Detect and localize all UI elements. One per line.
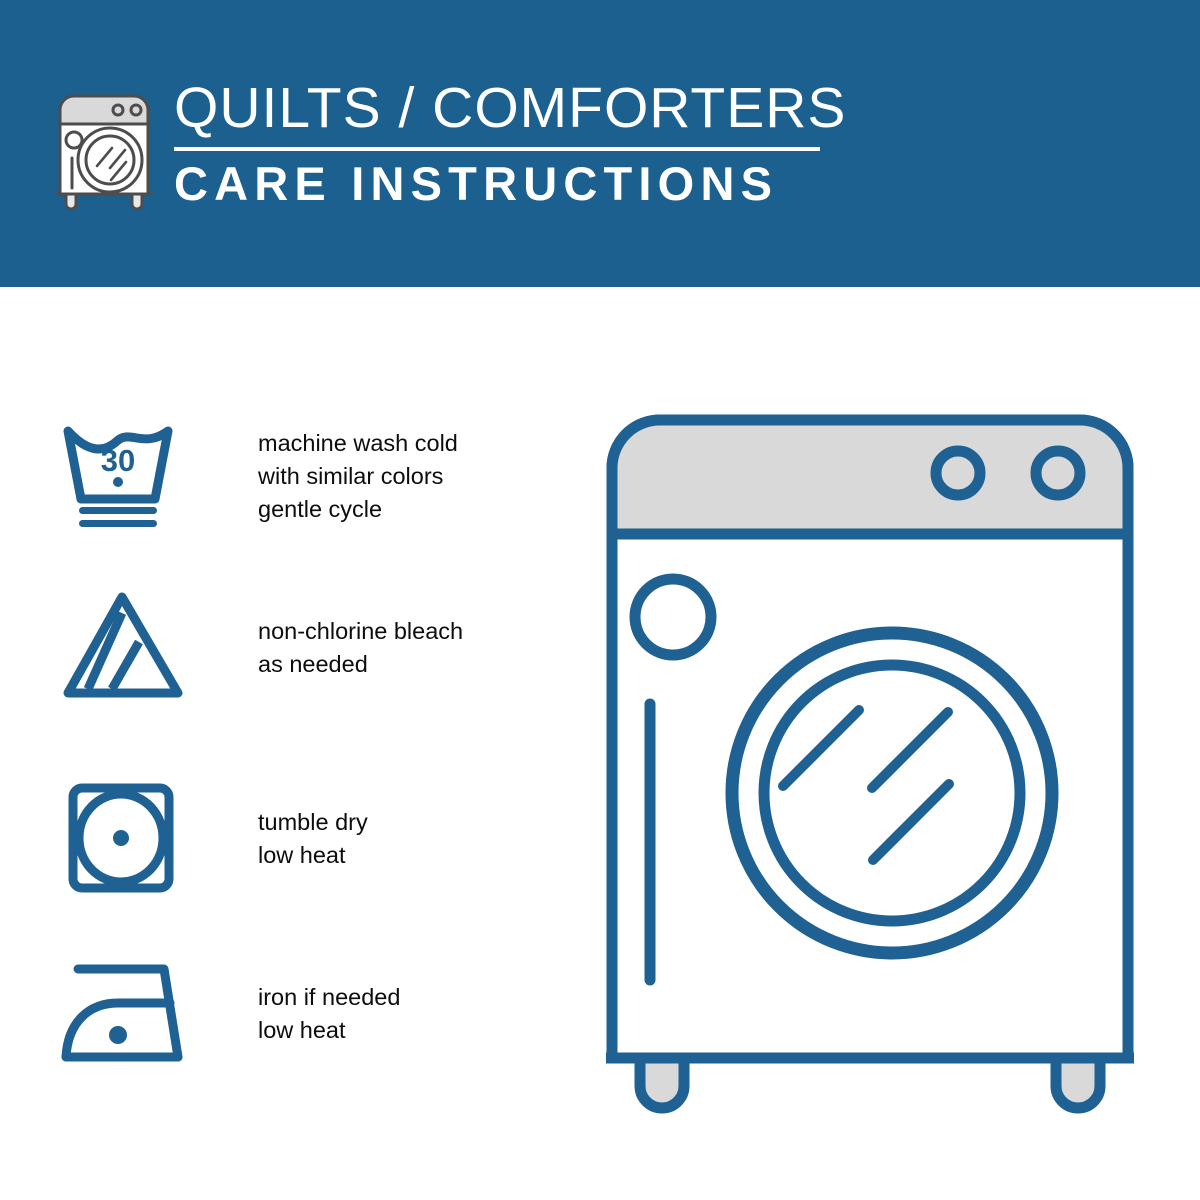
wash-temperature-value: 30 (101, 443, 135, 478)
care-label-tumble-dry: tumble dry low heat (258, 806, 368, 872)
knob-left (936, 451, 980, 495)
header-titles: QUILTS / COMFORTERS CARE INSTRUCTIONS (174, 78, 846, 210)
header-band: QUILTS / COMFORTERS CARE INSTRUCTIONS (0, 0, 1200, 287)
knob-right (1036, 451, 1080, 495)
care-row-iron: iron if needed low heat (60, 955, 400, 1067)
tumble-dry-low-heat-icon (60, 782, 190, 894)
title-divider (174, 147, 820, 151)
iron-low-heat-icon (60, 955, 190, 1067)
non-chlorine-bleach-triangle-icon (60, 589, 190, 701)
wash-basin-30-gentle-icon: 30 (60, 419, 190, 531)
front-load-washing-machine-illustration (600, 408, 1160, 1118)
leg-right (1056, 1058, 1100, 1108)
care-row-bleach: non-chlorine bleach as needed (60, 589, 463, 701)
header-content: QUILTS / COMFORTERS CARE INSTRUCTIONS (52, 78, 846, 210)
page-title: QUILTS / COMFORTERS (174, 78, 846, 138)
care-label-bleach: non-chlorine bleach as needed (258, 615, 463, 681)
leg-left (640, 1058, 684, 1108)
washing-machine-icon (52, 82, 156, 210)
page-subtitle: CARE INSTRUCTIONS (174, 158, 846, 210)
care-row-tumble-dry: tumble dry low heat (60, 782, 368, 894)
care-row-machine-wash: 30 machine wash cold with similar colors… (60, 419, 458, 531)
care-label-iron: iron if needed low heat (258, 981, 400, 1047)
care-label-machine-wash: machine wash cold with similar colors ge… (258, 427, 458, 526)
